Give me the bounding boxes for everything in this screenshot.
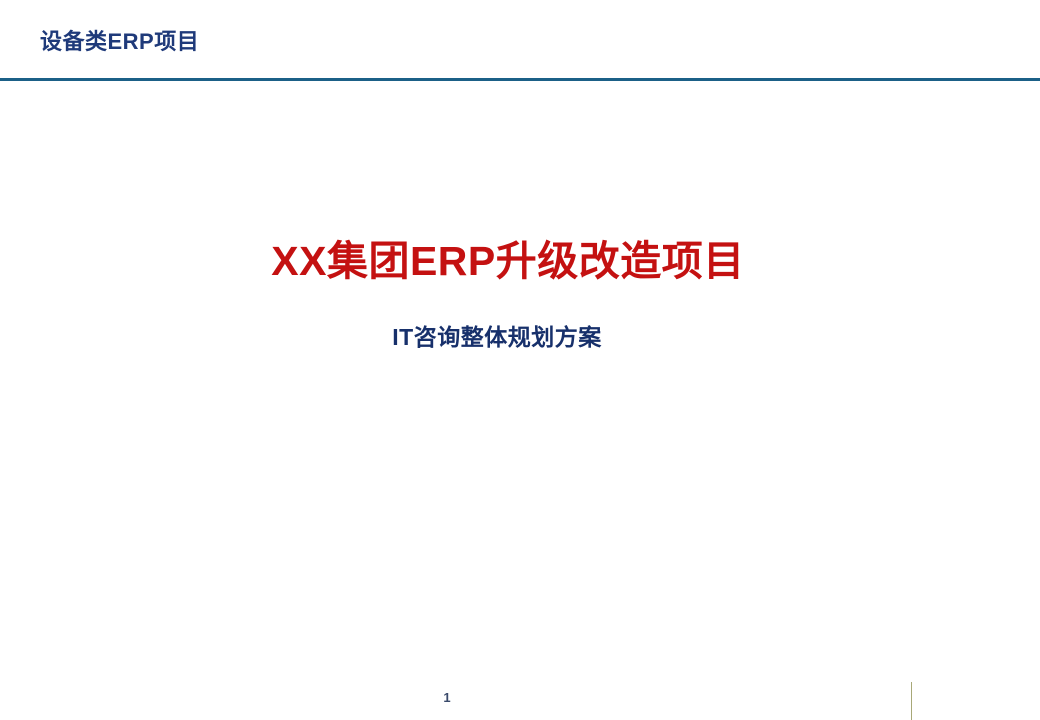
- header-project-title: 设备类ERP项目: [40, 29, 199, 54]
- page-title: XX集团ERP升级改造项目: [0, 239, 1016, 285]
- footer-tick-mark: [911, 682, 912, 720]
- slide-body: XX集团ERP升级改造项目 IT咨询整体规划方案: [0, 81, 1040, 720]
- presentation-slide: 设备类ERP项目 XX集团ERP升级改造项目 IT咨询整体规划方案 1: [0, 0, 1040, 720]
- slide-header: 设备类ERP项目: [0, 0, 1040, 78]
- page-number: 1: [0, 691, 894, 706]
- page-subtitle: IT咨询整体规划方案: [0, 324, 994, 350]
